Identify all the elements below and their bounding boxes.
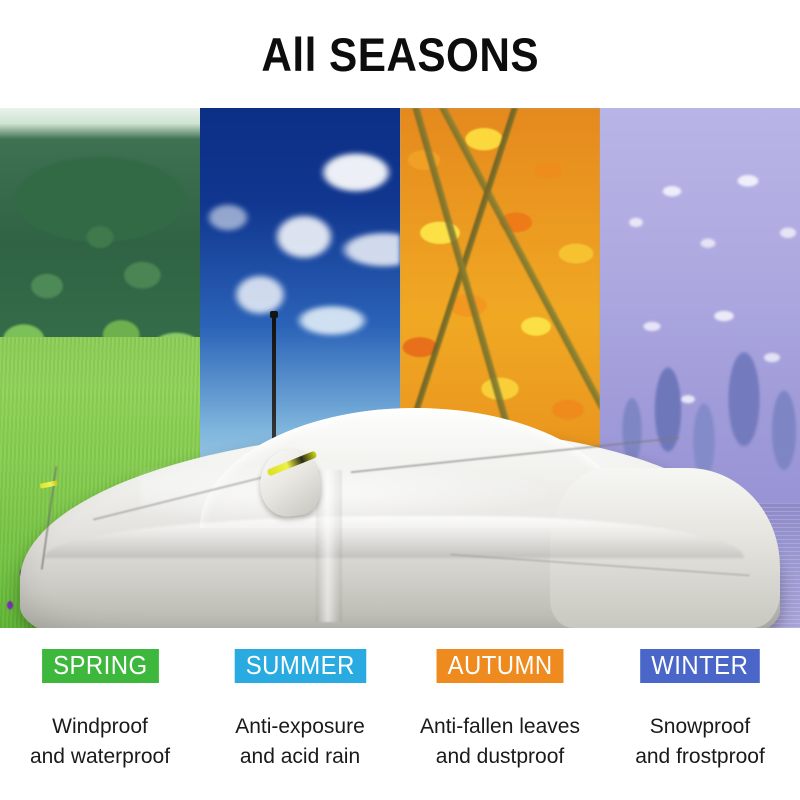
caption-line-1: Windproof — [6, 712, 194, 742]
season-photo-strip — [0, 108, 800, 628]
caption-spring: Windproof and waterproof — [0, 712, 200, 792]
caption-line-2: and dustproof — [406, 742, 594, 772]
caption-summer: Anti-exposure and acid rain — [200, 712, 400, 792]
season-caption-row: Windproof and waterproof Anti-exposure a… — [0, 712, 800, 792]
caption-line-2: and waterproof — [6, 742, 194, 772]
caption-line-2: and acid rain — [206, 742, 394, 772]
reflective-tab-icon — [40, 480, 59, 489]
caption-line-2: and frostproof — [606, 742, 794, 772]
cloud-icon — [200, 108, 400, 430]
badge-cell-summer: SUMMER — [200, 644, 400, 688]
status-badge-autumn: AUTUMN — [436, 649, 563, 683]
caption-autumn: Anti-fallen leaves and dustproof — [400, 712, 600, 792]
product-banner: All SEASONS — [0, 0, 800, 800]
season-badge-row: SPRING SUMMER AUTUMN WINTER — [0, 644, 800, 688]
caption-line-1: Anti-exposure — [206, 712, 394, 742]
title-band: All SEASONS — [0, 0, 800, 108]
badge-cell-spring: SPRING — [0, 644, 200, 688]
caption-line-1: Anti-fallen leaves — [406, 712, 594, 742]
covered-car — [20, 408, 780, 628]
badge-cell-autumn: AUTUMN — [400, 644, 600, 688]
status-badge-summer: SUMMER — [234, 649, 365, 683]
status-badge-winter: WINTER — [640, 649, 759, 683]
caption-line-1: Snowproof — [606, 712, 794, 742]
status-badge-spring: SPRING — [42, 649, 159, 683]
page-title: All SEASONS — [261, 27, 539, 82]
badge-cell-winter: WINTER — [600, 644, 800, 688]
caption-winter: Snowproof and frostproof — [600, 712, 800, 792]
